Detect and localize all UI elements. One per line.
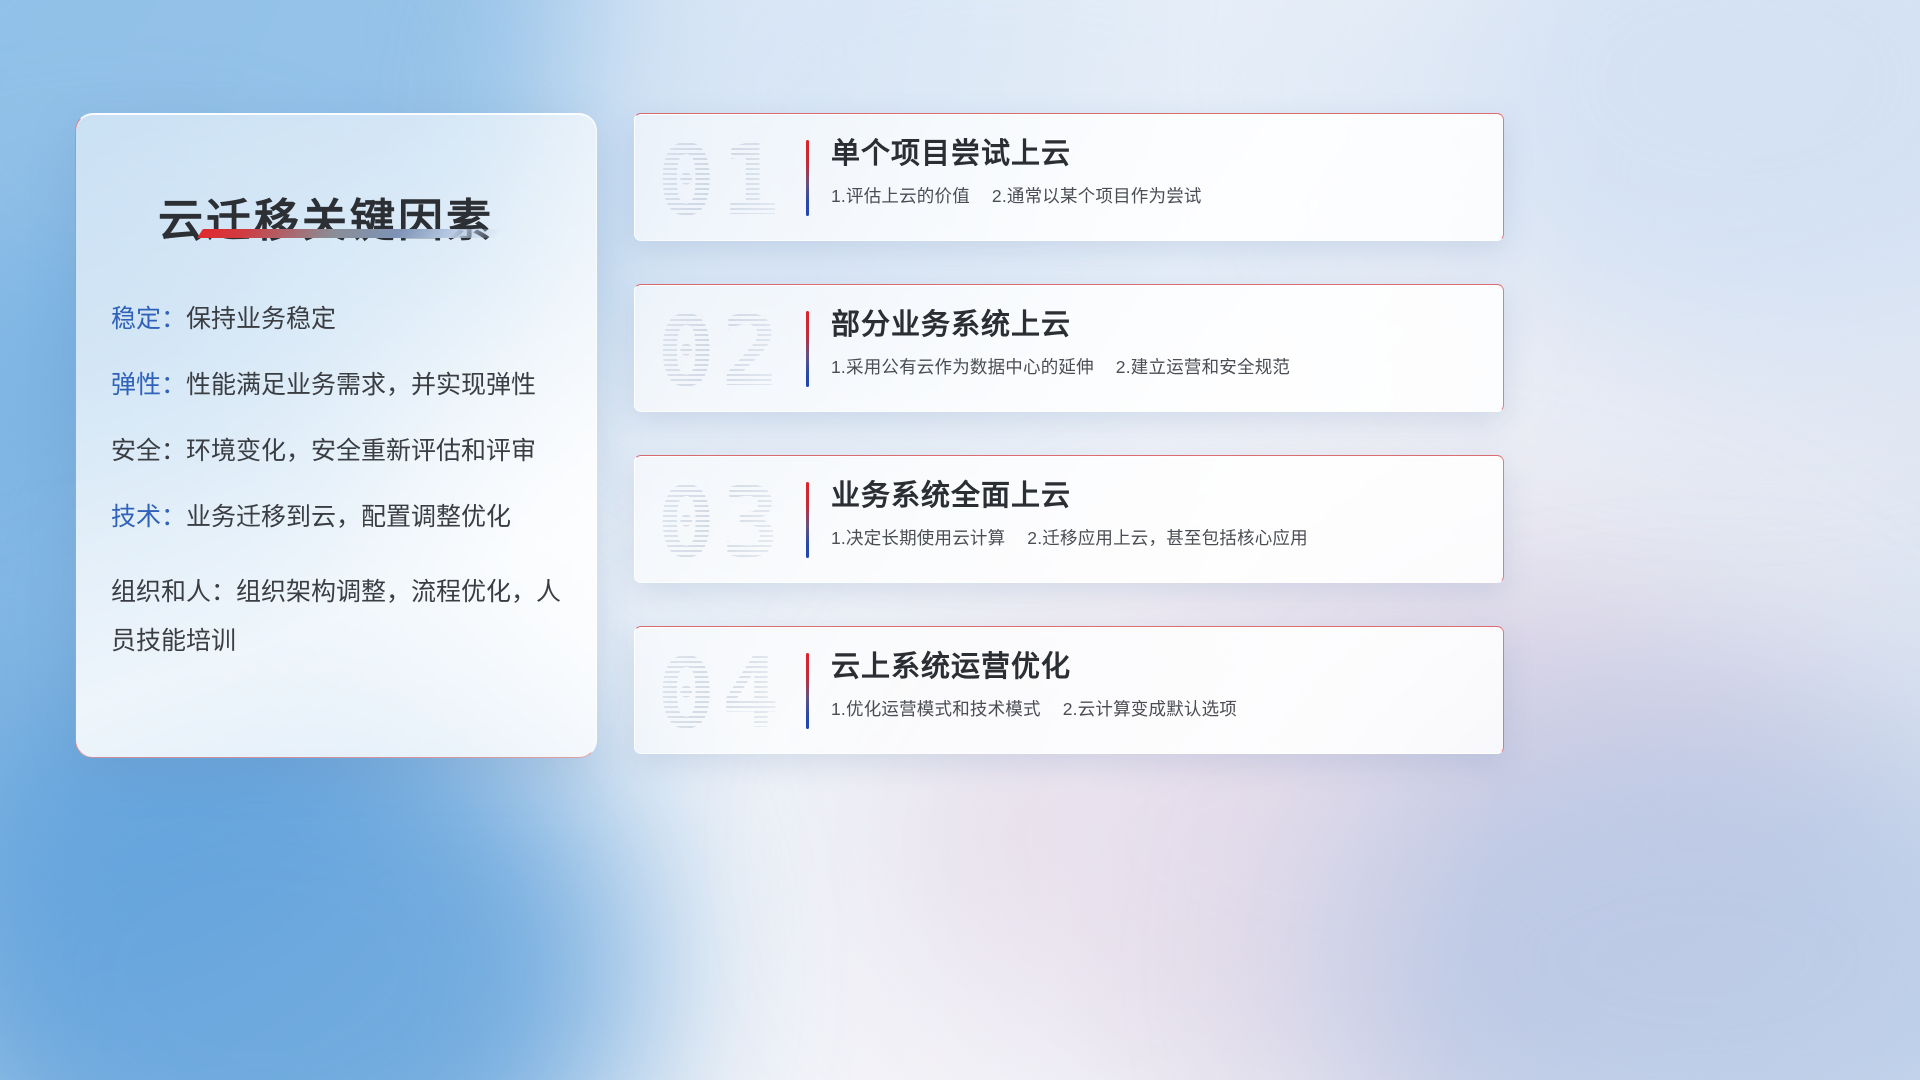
stage-number: 02 [657,289,786,412]
stage-accent-bar [806,482,809,558]
key-factors-panel: 云迁移关键因素 稳定：保持业务稳定弹性：性能满足业务需求，并实现弹性安全：环境变… [75,113,597,758]
key-factor-label: 安全： [111,437,186,465]
key-factor-label: 组织和人： [111,578,236,606]
stage-point: 2.云计算变成默认选项 [1063,699,1237,719]
stage-text-block: 部分业务系统上云1.采用公有云作为数据中心的延伸2.建立运营和安全规范 [831,307,1483,379]
key-factors-list: 稳定：保持业务稳定弹性：性能满足业务需求，并实现弹性安全：环境变化，安全重新评估… [111,304,581,666]
key-factor-value: 保持业务稳定 [186,305,336,333]
stage-number: 04 [657,631,786,754]
stage-card[interactable]: 02部分业务系统上云1.采用公有云作为数据中心的延伸2.建立运营和安全规范 [634,284,1504,412]
stage-accent-bar [806,653,809,729]
migration-stages-list: 01单个项目尝试上云1.评估上云的价值2.通常以某个项目作为尝试02部分业务系统… [634,113,1504,754]
stage-point: 1.采用公有云作为数据中心的延伸 [831,357,1094,377]
stage-point: 2.迁移应用上云，甚至包括核心应用 [1027,528,1308,548]
key-factor-item: 组织和人：组织架构调整，流程优化，人员技能培训 [111,568,581,666]
key-factor-label: 技术： [111,503,186,531]
stage-card[interactable]: 03业务系统全面上云1.决定长期使用云计算2.迁移应用上云，甚至包括核心应用 [634,455,1504,583]
key-factor-item: 安全：环境变化，安全重新评估和评审 [111,436,581,466]
stage-accent-bar [806,140,809,216]
title-underline-bar [197,229,503,238]
stage-points: 1.采用公有云作为数据中心的延伸2.建立运营和安全规范 [831,354,1483,379]
key-factor-label: 稳定： [111,305,186,333]
page-title: 云迁移关键因素 [158,184,494,249]
stage-card[interactable]: 04云上系统运营优化1.优化运营模式和技术模式2.云计算变成默认选项 [634,626,1504,754]
stage-points: 1.评估上云的价值2.通常以某个项目作为尝试 [831,183,1483,208]
key-factor-label: 弹性： [111,371,186,399]
key-factor-item: 技术：业务迁移到云，配置调整优化 [111,502,581,532]
stage-heading: 云上系统运营优化 [831,649,1483,685]
stage-accent-bar [806,311,809,387]
stage-text-block: 业务系统全面上云1.决定长期使用云计算2.迁移应用上云，甚至包括核心应用 [831,478,1483,550]
stage-points: 1.决定长期使用云计算2.迁移应用上云，甚至包括核心应用 [831,525,1483,550]
slide-canvas: 云迁移关键因素 稳定：保持业务稳定弹性：性能满足业务需求，并实现弹性安全：环境变… [0,0,1920,1080]
stage-text-block: 云上系统运营优化1.优化运营模式和技术模式2.云计算变成默认选项 [831,649,1483,721]
key-factor-item: 弹性：性能满足业务需求，并实现弹性 [111,370,581,400]
stage-heading: 部分业务系统上云 [831,307,1483,343]
stage-heading: 业务系统全面上云 [831,478,1483,514]
key-factor-value: 业务迁移到云，配置调整优化 [186,503,511,531]
stage-heading: 单个项目尝试上云 [831,136,1483,172]
stage-number: 03 [657,460,786,583]
key-factor-value: 环境变化，安全重新评估和评审 [186,437,536,465]
stage-point: 1.优化运营模式和技术模式 [831,699,1041,719]
key-factor-item: 稳定：保持业务稳定 [111,304,581,334]
stage-number: 01 [657,118,786,241]
stage-point: 2.通常以某个项目作为尝试 [992,186,1202,206]
stage-point: 2.建立运营和安全规范 [1116,357,1290,377]
stage-points: 1.优化运营模式和技术模式2.云计算变成默认选项 [831,696,1483,721]
key-factor-value: 性能满足业务需求，并实现弹性 [186,371,536,399]
stage-point: 1.决定长期使用云计算 [831,528,1005,548]
stage-text-block: 单个项目尝试上云1.评估上云的价值2.通常以某个项目作为尝试 [831,136,1483,208]
stage-card[interactable]: 01单个项目尝试上云1.评估上云的价值2.通常以某个项目作为尝试 [634,113,1504,241]
stage-point: 1.评估上云的价值 [831,186,970,206]
